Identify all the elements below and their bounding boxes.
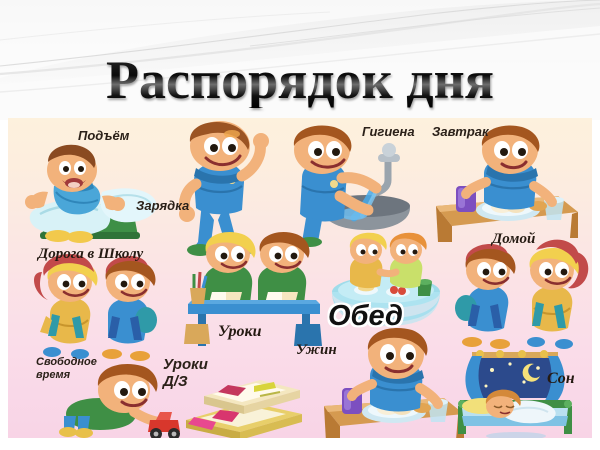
label-zaryadka: Зарядка <box>136 198 189 213</box>
illustration-kids-walking-home <box>452 248 592 354</box>
label-domoy: Домой <box>492 231 535 248</box>
illustration-boy-waking-in-bed <box>14 140 160 246</box>
label-uroki-dz: Уроки Д/З <box>163 356 208 390</box>
label-son: Сон <box>547 370 575 388</box>
label-uzhin: Ужин <box>296 342 337 359</box>
page-title: Распорядок дня <box>0 52 600 108</box>
label-uroki: Уроки <box>218 323 262 341</box>
slide-header: Распорядок дня <box>0 0 600 120</box>
label-svobodnoe-vremya: Свободное время <box>36 356 97 382</box>
label-obed: Обед <box>328 300 403 333</box>
label-gigiena: Гигиена <box>362 124 415 139</box>
daily-routine-panel: Подъём Зарядка Гигиена Завтрак Дорога в … <box>8 118 592 438</box>
label-podyom: Подъём <box>78 128 129 143</box>
illustration-boy-washing-face <box>292 126 432 250</box>
label-doroga-v-shkolu: Дорога в Школу <box>38 246 143 263</box>
slide-root: Распорядок дня <box>0 0 600 450</box>
illustration-kids-walking-school <box>22 260 172 364</box>
label-zavtrak: Завтрак <box>432 124 489 139</box>
illustration-child-sleeping <box>452 346 578 438</box>
illustration-boy-eating-supper <box>322 344 468 438</box>
